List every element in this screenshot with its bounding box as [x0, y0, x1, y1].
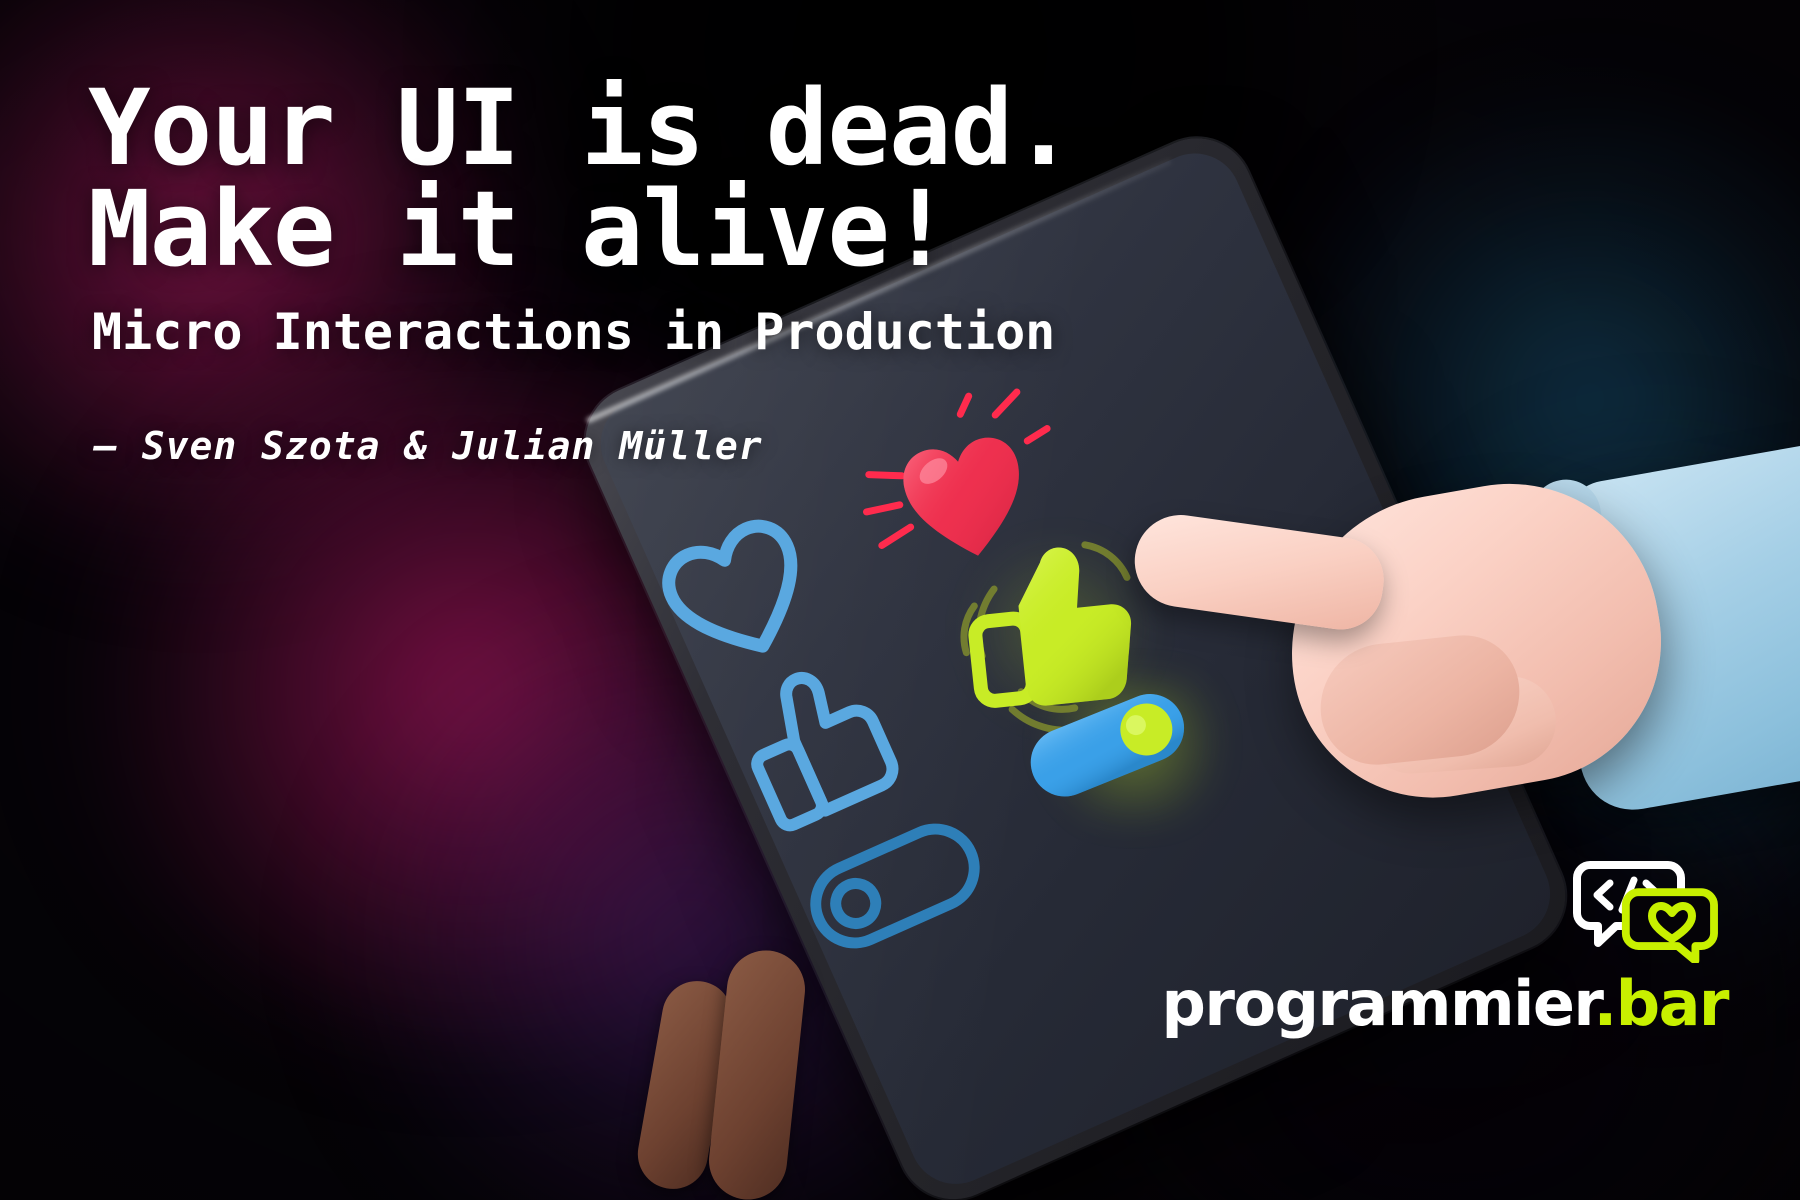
brand-wordmark: programmier.bar — [1162, 967, 1728, 1040]
headline-line-2: Make it alive! — [88, 179, 1288, 280]
subtitle: Micro Interactions in Production — [92, 302, 1288, 362]
holding-hand-finger-2 — [705, 947, 809, 1200]
title-block: Your UI is dead. Make it alive! Micro In… — [88, 78, 1288, 468]
holding-hand — [640, 940, 860, 1200]
heart-speech-bubble-icon — [1626, 892, 1714, 961]
brand-name-primary: programmier — [1162, 967, 1594, 1040]
speaker-byline: – Sven Szota & Julian Müller — [94, 424, 1288, 468]
slide-canvas: Your UI is dead. Make it alive! Micro In… — [0, 0, 1800, 1200]
logo-bubbles — [1572, 855, 1722, 963]
brand-name-accent: .bar — [1594, 967, 1728, 1040]
page-title: Your UI is dead. Make it alive! — [88, 78, 1288, 280]
